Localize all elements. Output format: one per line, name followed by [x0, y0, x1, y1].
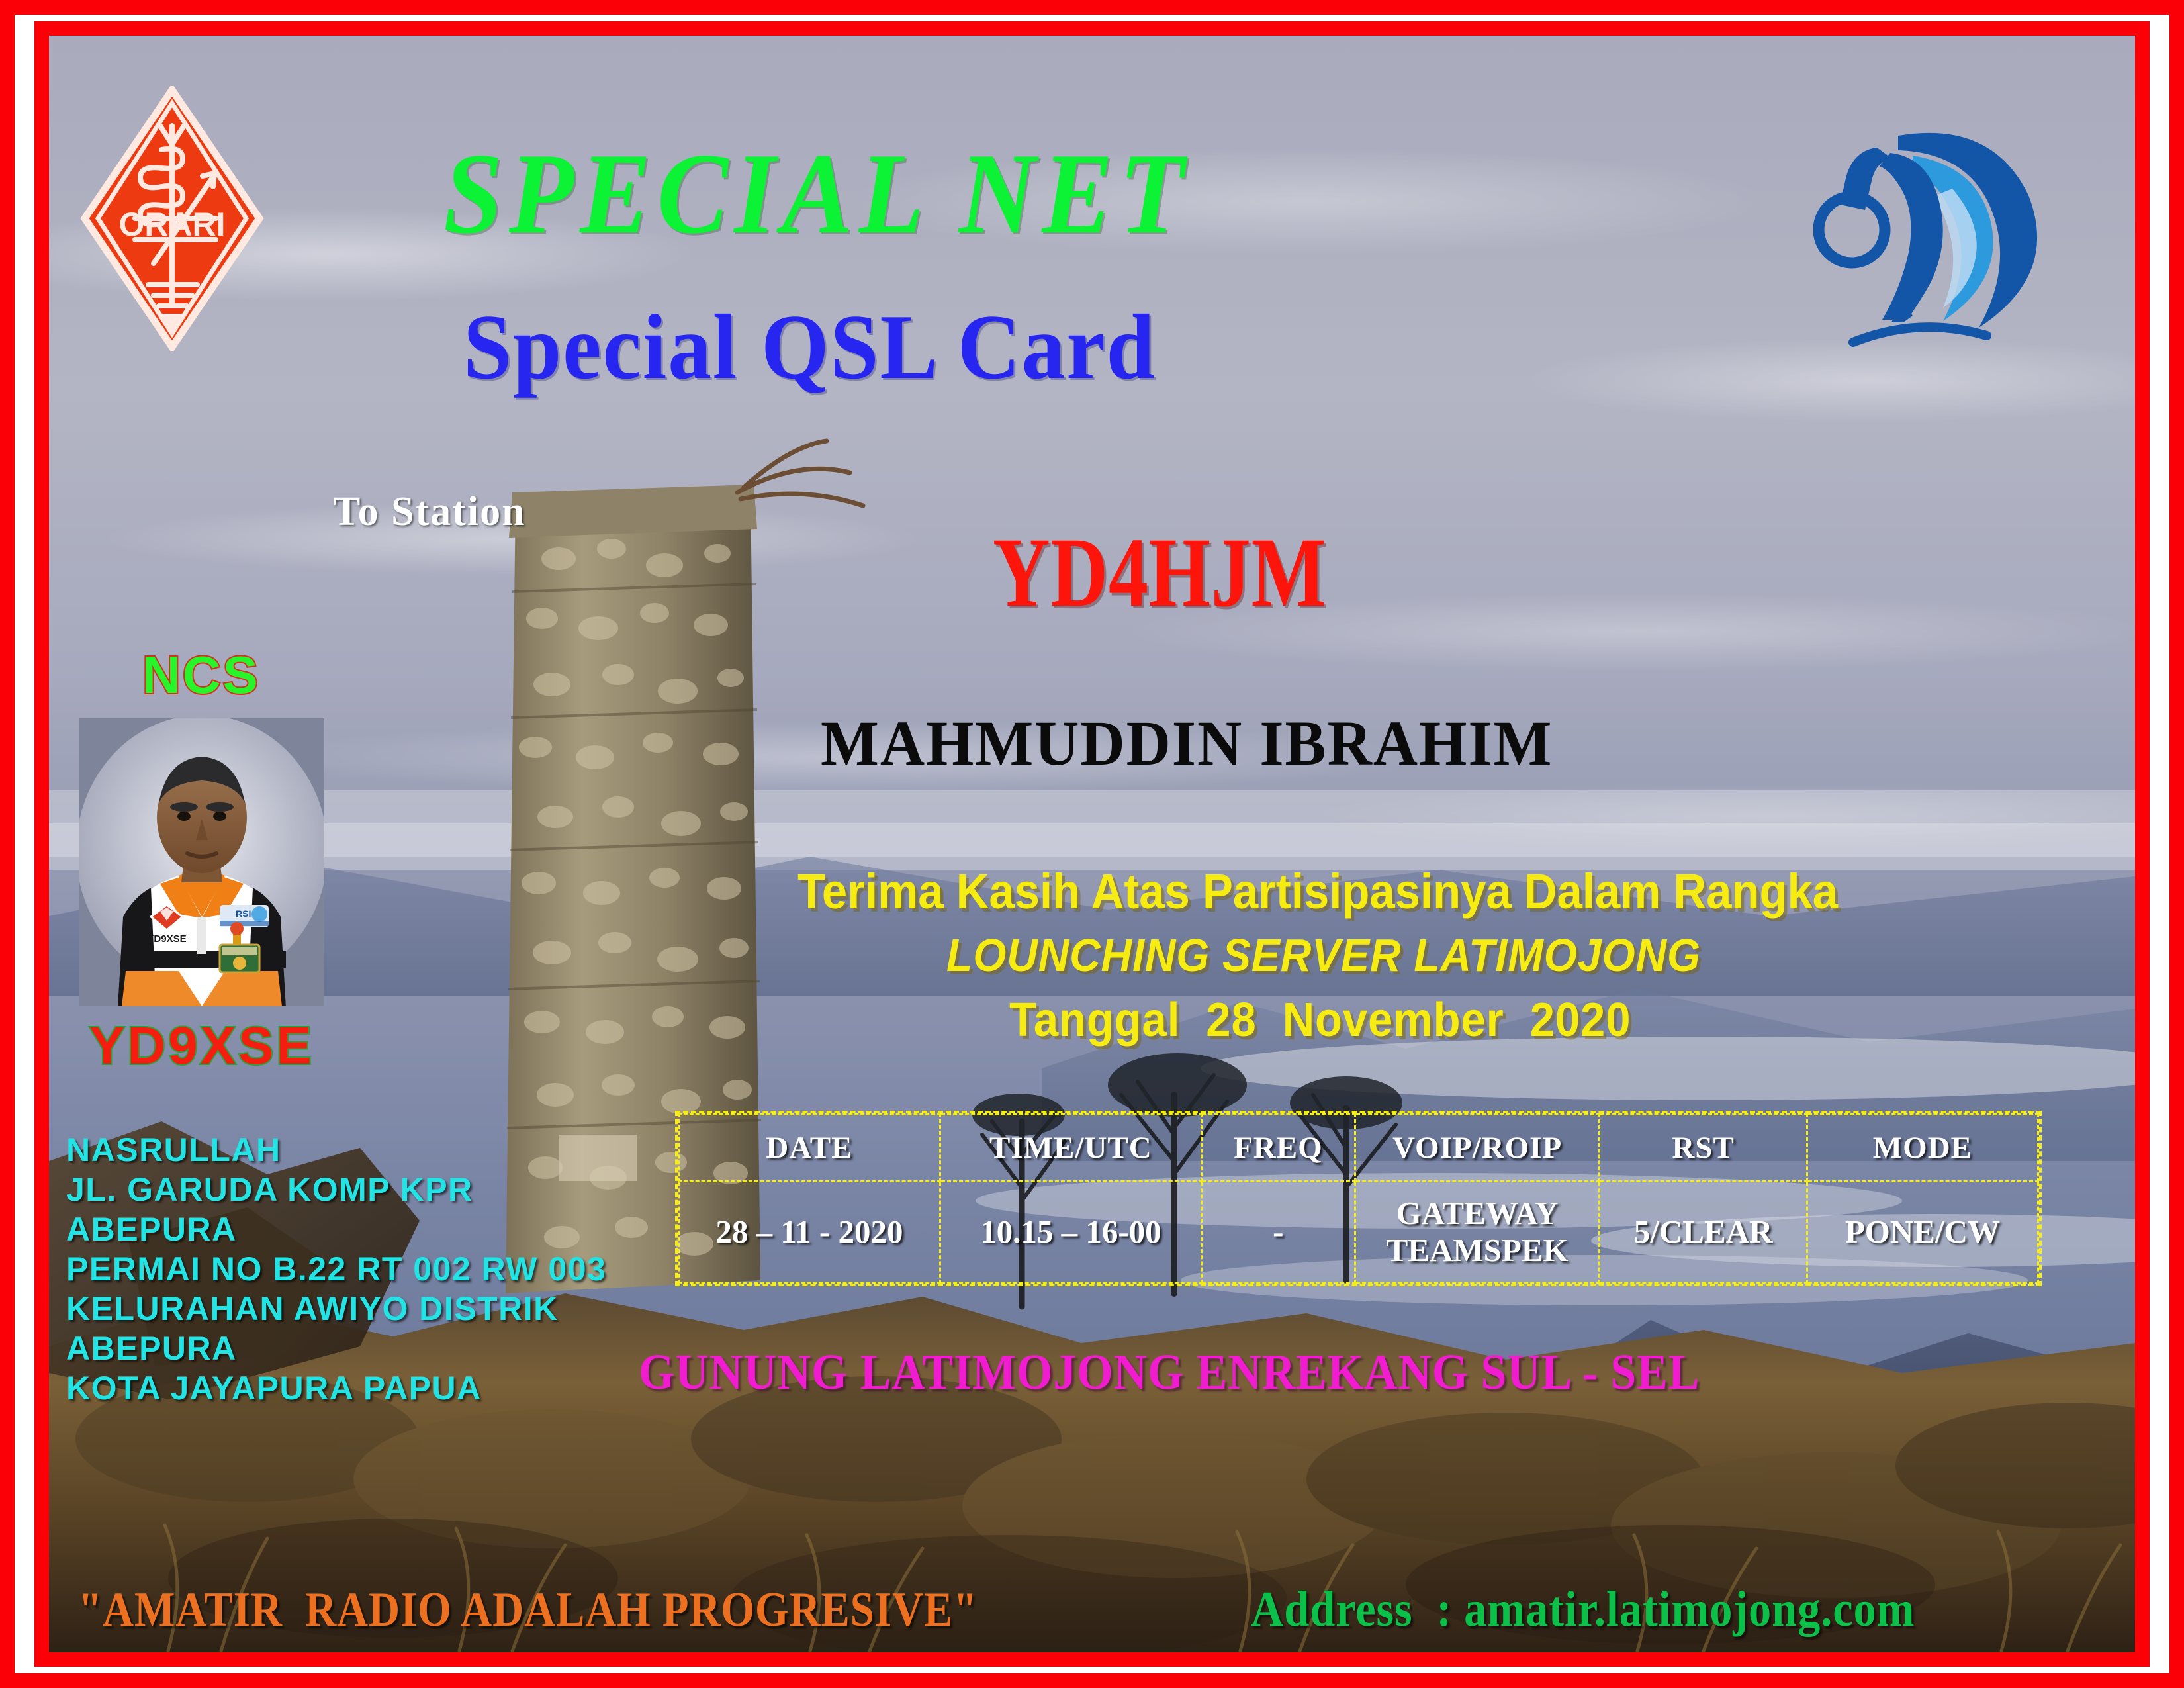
address-line: JL. GARUDA KOMP KPR: [66, 1170, 606, 1209]
headset-profile-logo-svg: [1813, 109, 2058, 354]
ncs-uniform-badge-text: YD9XSE: [147, 933, 186, 945]
ncs-callsign: YD9XSE: [89, 1019, 314, 1072]
cell-time: 10.15 – 16-00: [940, 1182, 1201, 1283]
column-header-voip-roip: VOIP/ROIP: [1355, 1115, 1599, 1182]
address-line: NASRULLAH: [66, 1130, 606, 1170]
qsl-card: ORARI SPECIAL NET Special QSL Card To St…: [0, 0, 2184, 1688]
cell-voip-roip: GATEWAY TEAMSPEK: [1355, 1182, 1599, 1283]
address-line: ABEPURA: [66, 1329, 606, 1368]
to-station-label: To Station: [333, 491, 526, 532]
web-address-text: Address : amatir.latimojong.com: [1251, 1584, 1915, 1634]
orari-logo: ORARI: [79, 86, 265, 351]
motto-text: "AMATIR RADIO ADALAH PROGRESIVE": [78, 1585, 978, 1634]
event-date-line: Tanggal 28 November 2020: [1009, 996, 1631, 1044]
location-line: GUNUNG LATIMOJONG ENREKANG SUL - SEL: [639, 1347, 1700, 1397]
address-line: KELURAHAN AWIYO DISTRIK: [66, 1289, 606, 1329]
thanks-line: Terima Kasih Atas Partisipasinya Dalam R…: [797, 867, 1838, 916]
address-line: ABEPURA: [66, 1209, 606, 1249]
event-line: LOUNCHING SERVER LATIMOJONG: [946, 932, 1701, 978]
ncs-operator-photo: YD9XSE RSI: [79, 718, 324, 1006]
cell-rst: 5/CLEAR: [1600, 1182, 1807, 1283]
address-line: PERMAI NO B.22 RT 002 RW 003: [66, 1249, 606, 1289]
cell-date: 28 – 11 - 2020: [679, 1182, 940, 1283]
qso-details-table: DATE TIME/UTC FREQ VOIP/ROIP RST MODE 28…: [675, 1111, 2042, 1286]
table-row: 28 – 11 - 2020 10.15 – 16-00 - GATEWAY T…: [679, 1182, 2038, 1283]
column-header-rst: RST: [1600, 1115, 1807, 1182]
cell-voip-line1: GATEWAY: [1356, 1195, 1598, 1232]
page-title: SPECIAL NET: [443, 136, 1191, 252]
ncs-label: NCS: [142, 649, 260, 702]
address-line: KOTA JAYAPURA PAPUA: [66, 1368, 606, 1408]
qso-table: DATE TIME/UTC FREQ VOIP/ROIP RST MODE 28…: [678, 1113, 2039, 1284]
cell-voip-line2: TEAMSPEK: [1356, 1232, 1598, 1269]
svg-text:RSI: RSI: [236, 908, 251, 919]
cell-mode: PONE/CW: [1807, 1182, 2038, 1283]
column-header-mode: MODE: [1807, 1115, 2038, 1182]
recipient-callsign: YD4HJM: [993, 523, 1327, 622]
column-header-freq: FREQ: [1201, 1115, 1355, 1182]
column-header-time: TIME/UTC: [940, 1115, 1201, 1182]
cell-freq: -: [1201, 1182, 1355, 1283]
column-header-date: DATE: [679, 1115, 940, 1182]
orari-logo-svg: ORARI: [79, 86, 265, 351]
orari-logo-text: ORARI: [118, 206, 225, 243]
headset-profile-logo: [1813, 109, 2058, 354]
table-header-row: DATE TIME/UTC FREQ VOIP/ROIP RST MODE: [679, 1115, 2038, 1182]
page-subtitle: Special QSL Card: [463, 301, 1156, 394]
return-address-block: NASRULLAH JL. GARUDA KOMP KPR ABEPURA PE…: [66, 1130, 606, 1408]
ncs-photo-svg: YD9XSE RSI: [79, 718, 324, 1006]
operator-name: MAHMUDDIN IBRAHIM: [821, 712, 1553, 775]
